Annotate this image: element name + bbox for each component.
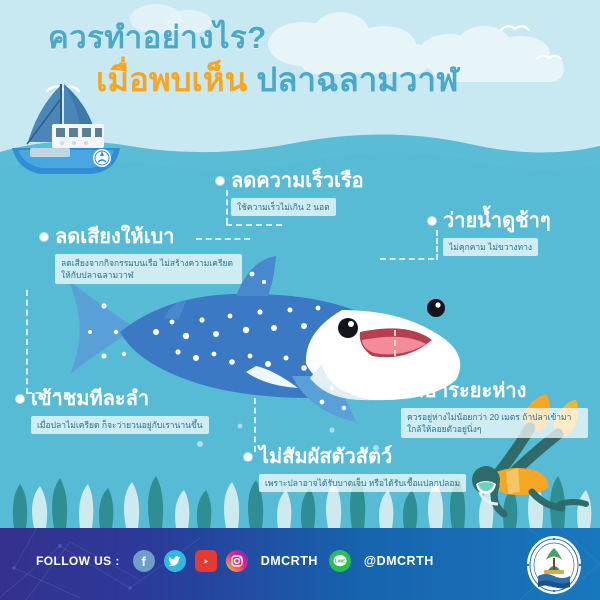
tip-marker-dot: [16, 395, 24, 403]
tip-subtitle: เมื่อปลาไม่เครียด ก็จะว่ายวนอยู่กับเรานา…: [31, 416, 209, 434]
tip-do-not-touch: ไม่สัมผัสตัวสัตว์ เพราะปลาอาจได้รับบาดเจ…: [244, 444, 466, 492]
tip-reduce-boat-speed: ลดความเร็วเรือ ใช้ความเร็วไม่เกิน 2 นอต: [216, 168, 364, 216]
title-line-2-blue: ปลาฉลามวาฬ: [256, 61, 458, 98]
line-handle: @DMCRTH: [364, 554, 434, 568]
tip-subtitle: เพราะปลาอาจได้รับบาดเจ็บ หรือได้รับเชื้อ…: [259, 474, 466, 492]
connector-line: [380, 258, 434, 260]
twitter-icon[interactable]: [164, 550, 186, 572]
tip-subtitle: ควรอยู่ห่างไม่น้อยกว่า 20 เมตร ถ้าปลาเข้…: [401, 408, 588, 438]
tip-subtitle: ลดเสียงจากกิจกรรมบนเรือ ไม่สร้างความเครี…: [55, 254, 242, 284]
tip-reduce-noise: ลดเสียงให้เบา ลดเสียงจากกิจกรรมบนเรือ ไม…: [40, 224, 242, 284]
title-line-2-orange: เมื่อพบเห็น: [96, 61, 247, 98]
facebook-icon[interactable]: f: [133, 550, 155, 572]
tip-keep-distance: รักษาระยะห่าง ควรอยู่ห่างไม่น้อยกว่า 20 …: [386, 378, 588, 438]
follow-us-label: FOLLOW US :: [36, 554, 120, 568]
title-line-2: เมื่อพบเห็น ปลาฉลามวาฬ: [96, 58, 600, 102]
social-handle: DMCRTH: [261, 554, 318, 568]
tip-marker-dot: [40, 233, 48, 241]
tip-subtitle: ใช้ความเร็วไม่เกิน 2 นอต: [231, 198, 336, 216]
infographic-poster: ลดความเร็วเรือ ใช้ความเร็วไม่เกิน 2 นอต …: [0, 0, 600, 600]
svg-text:LINE: LINE: [335, 558, 345, 563]
tip-title: ไม่สัมผัสตัวสัตว์: [259, 444, 392, 470]
dmcr-seal-logo: [524, 534, 584, 596]
tip-title: เข้าชมทีละลำ: [31, 386, 149, 412]
tip-title: ว่ายน้ำดูช้าๆ: [443, 208, 551, 234]
tip-marker-dot: [216, 177, 224, 185]
tip-marker-dot: [386, 387, 394, 395]
tip-subtitle: ไม่คุกคาม ไม่ขวางทาง: [443, 238, 538, 256]
poster-title: ควรทำอย่างไร? เมื่อพบเห็น ปลาฉลามวาฬ: [0, 18, 600, 102]
connector-line: [26, 290, 28, 394]
tip-marker-dot: [428, 217, 436, 225]
instagram-icon[interactable]: [226, 550, 248, 572]
line-icon[interactable]: LINE: [329, 550, 351, 572]
follow-us-row: FOLLOW US : f DMCRTH: [36, 550, 436, 572]
tip-title: รักษาระยะห่าง: [401, 378, 526, 404]
footer-bar: FOLLOW US : f DMCRTH: [0, 528, 600, 600]
tip-swim-slowly: ว่ายน้ำดูช้าๆ ไม่คุกคาม ไม่ขวางทาง: [428, 208, 551, 256]
tip-title: ลดเสียงให้เบา: [55, 224, 174, 250]
tip-marker-dot: [244, 453, 252, 461]
tip-one-boat-at-a-time: เข้าชมทีละลำ เมื่อปลาไม่เครียด ก็จะว่ายว…: [16, 386, 209, 434]
title-line-1: ควรทำอย่างไร?: [48, 18, 600, 58]
youtube-icon[interactable]: [195, 550, 217, 572]
tip-title: ลดความเร็วเรือ: [231, 168, 364, 194]
